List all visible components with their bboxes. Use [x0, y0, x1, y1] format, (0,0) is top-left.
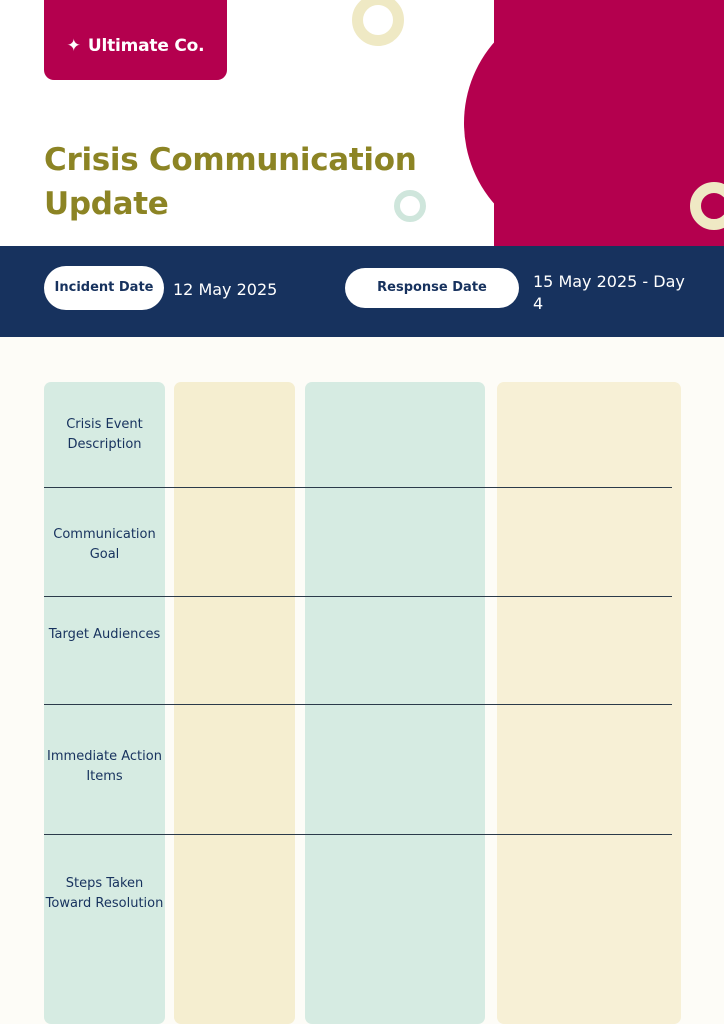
decorative-ring-icon — [352, 0, 404, 46]
logo-badge: ✦ Ultimate Co. — [44, 0, 227, 80]
row-divider — [44, 596, 672, 597]
row-divider — [44, 704, 672, 705]
table-column-4[interactable] — [497, 382, 681, 1024]
incident-date-value: 12 May 2025 — [173, 279, 323, 301]
table-column-2[interactable] — [174, 382, 295, 1024]
page-title: Crisis Communication Update — [44, 138, 464, 226]
response-date-label: Response Date — [345, 268, 519, 308]
row-divider — [44, 834, 672, 835]
table-column-labels — [44, 382, 165, 1024]
table-area: Crisis Event Description Communication G… — [0, 337, 724, 1024]
date-band: Incident Date 12 May 2025 Response Date … — [0, 246, 724, 337]
row-label-communication-goal: Communication Goal — [44, 525, 165, 565]
row-label-steps-taken-toward-resolution: Steps Taken Toward Resolution — [44, 874, 165, 914]
row-divider — [44, 487, 672, 488]
row-label-target-audiences: Target Audiences — [44, 625, 165, 645]
row-label-crisis-event-description: Crisis Event Description — [44, 415, 165, 455]
logo-lockup: ✦ Ultimate Co. — [67, 36, 205, 56]
incident-date-label: Incident Date — [44, 266, 164, 310]
table-column-3[interactable] — [305, 382, 485, 1024]
brand-name: Ultimate Co. — [88, 36, 205, 56]
row-label-immediate-action-items: Immediate Action Items — [44, 747, 165, 787]
star-icon: ✦ — [67, 38, 81, 55]
document-page: ✦ Ultimate Co. Crisis Communication Upda… — [0, 0, 724, 1024]
response-date-value: 15 May 2025 - Day 4 — [533, 271, 693, 314]
